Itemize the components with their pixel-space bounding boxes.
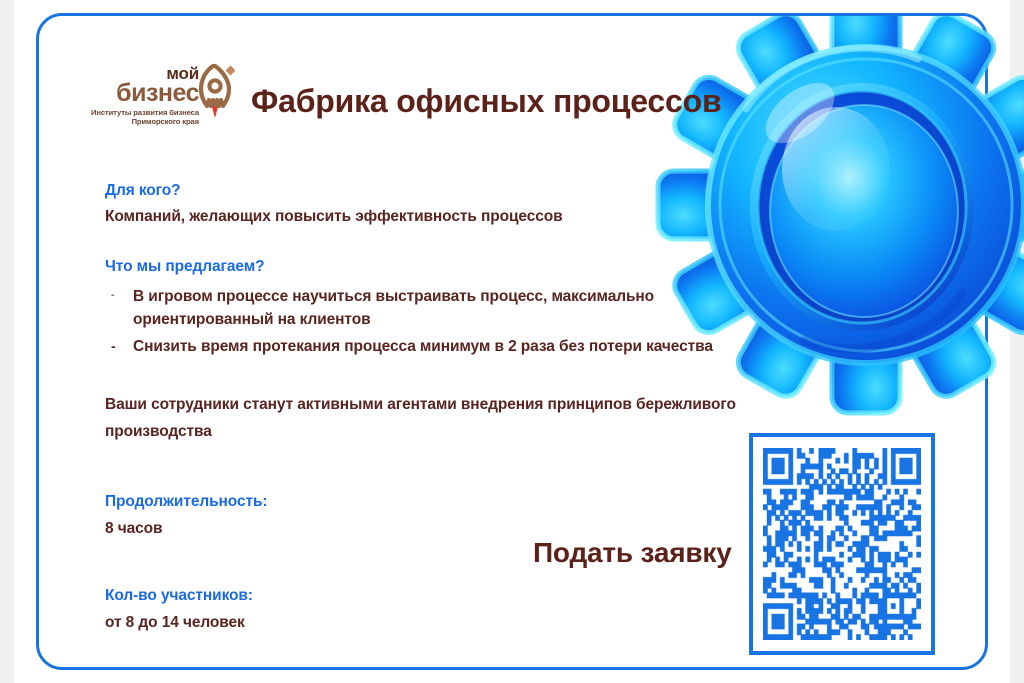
rocket-pin-icon bbox=[199, 62, 235, 120]
qr-code[interactable] bbox=[749, 433, 935, 655]
duration-value: 8 часов bbox=[105, 520, 267, 538]
section-agents: Ваши сотрудники станут активными агентам… bbox=[105, 391, 745, 445]
for-whom-heading: Для кого? bbox=[105, 182, 563, 200]
participants-value: от 8 до 14 человек bbox=[105, 614, 253, 632]
offer-heading: Что мы предлагаем? bbox=[105, 258, 729, 276]
offer-bullet-text: Снизить время протекания процесса миниму… bbox=[133, 338, 713, 355]
section-participants: Кол-во участников: от 8 до 14 человек bbox=[105, 587, 253, 632]
list-item: - Снизить время протекания процесса мини… bbox=[105, 335, 729, 358]
logo-subtitle-line2: Приморского края bbox=[87, 117, 199, 126]
page-title: Фабрика офисных процессов bbox=[251, 83, 721, 120]
section-offer: Что мы предлагаем? - В игровом процессе … bbox=[105, 258, 729, 362]
poster-card: мой бизнес Институты развития бизнеса Пр… bbox=[36, 13, 988, 670]
for-whom-text: Компаний, желающих повысить эффективност… bbox=[105, 208, 563, 226]
offer-bullet-list: - В игровом процессе научиться выстраива… bbox=[105, 285, 729, 358]
logo: мой бизнес Институты развития бизнеса Пр… bbox=[87, 64, 235, 142]
section-for-whom: Для кого? Компаний, желающих повысить эф… bbox=[105, 182, 563, 226]
poster-page: мой бизнес Институты развития бизнеса Пр… bbox=[0, 0, 1024, 683]
logo-subtitle-line1: Институты развития бизнеса bbox=[87, 108, 199, 117]
qr-code-canvas[interactable] bbox=[763, 448, 921, 640]
bullet-marker-icon: - bbox=[111, 284, 115, 307]
duration-heading: Продолжительность: bbox=[105, 493, 267, 511]
logo-text: мой бизнес Институты развития бизнеса Пр… bbox=[87, 64, 199, 127]
offer-bullet-text: В игровом процессе научиться выстраивать… bbox=[133, 288, 654, 328]
logo-word-main: бизнес bbox=[87, 81, 199, 105]
bullet-marker-icon: - bbox=[111, 335, 116, 358]
participants-heading: Кол-во участников: bbox=[105, 587, 253, 605]
logo-subtitle: Институты развития бизнеса Приморского к… bbox=[87, 108, 199, 127]
list-item: - В игровом процессе научиться выстраива… bbox=[105, 285, 729, 331]
submit-application-label[interactable]: Подать заявку bbox=[533, 537, 732, 569]
section-duration: Продолжительность: 8 часов bbox=[105, 493, 267, 538]
